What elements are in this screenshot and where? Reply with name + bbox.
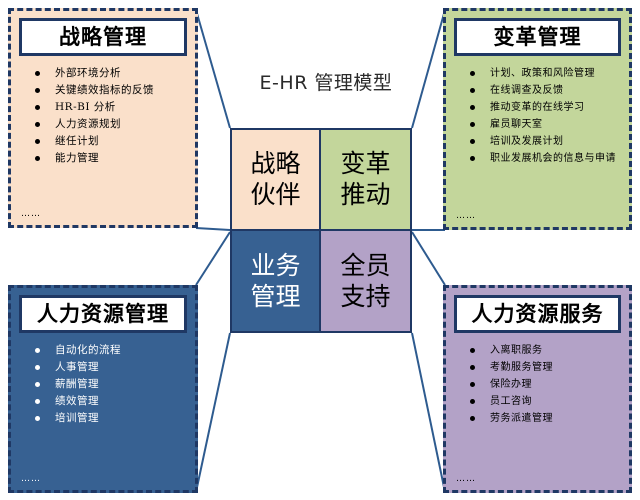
panel-change-management-ellipsis: …… bbox=[454, 211, 621, 221]
list-item: 保险办理 bbox=[470, 376, 621, 393]
list-item: 自动化的流程 bbox=[35, 342, 187, 359]
panel-strategy-management-list: 外部环境分析关键绩效指标的反馈HR-BI 分析人力资源规划继任计划能力管理 bbox=[19, 65, 187, 206]
panel-hr-management-ellipsis: …… bbox=[19, 474, 187, 484]
diagram-canvas: E-HR 管理模型 战略 伙伴 变革 推动 业务 管理 全员 支持 战略管理 外… bbox=[0, 0, 640, 500]
connector-strategy-bottom bbox=[196, 228, 230, 230]
connector-hrm-top bbox=[196, 232, 230, 285]
quadrant-business-management-line1: 业务 bbox=[250, 250, 300, 281]
list-item: 培训管理 bbox=[35, 410, 187, 427]
panel-hr-management-list: 自动化的流程人事管理薪酬管理绩效管理培训管理 bbox=[19, 342, 187, 471]
panel-strategy-management-title: 战略管理 bbox=[19, 18, 187, 56]
list-item: 人力资源规划 bbox=[35, 116, 187, 133]
list-item: 计划、政策和风险管理 bbox=[470, 65, 621, 82]
quadrant-business-management[interactable]: 业务 管理 bbox=[232, 231, 321, 332]
connector-hrm-bottom bbox=[196, 333, 230, 492]
quadrant-business-management-line2: 管理 bbox=[250, 281, 300, 312]
list-item: 职业发展机会的信息与申请 bbox=[470, 150, 621, 167]
panel-hr-management[interactable]: 人力资源管理 自动化的流程人事管理薪酬管理绩效管理培训管理 …… bbox=[8, 285, 198, 493]
list-item: 关键绩效指标的反馈 bbox=[35, 82, 187, 99]
quadrant-change-driver[interactable]: 变革 推动 bbox=[321, 130, 410, 231]
panel-change-management-title: 变革管理 bbox=[454, 18, 621, 56]
connector-hrs-top bbox=[412, 232, 445, 285]
list-item: 考勤服务管理 bbox=[470, 359, 621, 376]
list-item: 外部环境分析 bbox=[35, 65, 187, 82]
quadrant-all-staff-support[interactable]: 全员 支持 bbox=[321, 231, 410, 332]
quadrant-change-driver-line2: 推动 bbox=[340, 179, 390, 210]
list-item: 在线调查及反馈 bbox=[470, 82, 621, 99]
connector-change-top bbox=[412, 10, 445, 128]
list-item: 入离职服务 bbox=[470, 342, 621, 359]
list-item: 雇员聊天室 bbox=[470, 116, 621, 133]
quadrant-strategy-partner-line1: 战略 bbox=[250, 148, 300, 179]
diagram-title: E-HR 管理模型 bbox=[236, 68, 416, 95]
list-item: 人事管理 bbox=[35, 359, 187, 376]
list-item: 继任计划 bbox=[35, 133, 187, 150]
panel-change-management[interactable]: 变革管理 计划、政策和风险管理在线调查及反馈推动变革的在线学习雇员聊天室培训及发… bbox=[443, 8, 632, 230]
panel-hr-services-list: 入离职服务考勤服务管理保险办理员工咨询劳务派遣管理 bbox=[454, 342, 621, 471]
list-item: 员工咨询 bbox=[470, 393, 621, 410]
panel-hr-services[interactable]: 人力资源服务 入离职服务考勤服务管理保险办理员工咨询劳务派遣管理 …… bbox=[443, 285, 632, 493]
list-item: HR-BI 分析 bbox=[35, 99, 187, 116]
panel-strategy-management[interactable]: 战略管理 外部环境分析关键绩效指标的反馈HR-BI 分析人力资源规划继任计划能力… bbox=[8, 8, 198, 228]
panel-change-management-list: 计划、政策和风险管理在线调查及反馈推动变革的在线学习雇员聊天室培训及发展计划职业… bbox=[454, 65, 621, 208]
list-item: 能力管理 bbox=[35, 150, 187, 167]
list-item: 薪酬管理 bbox=[35, 376, 187, 393]
quadrant-change-driver-line1: 变革 bbox=[340, 148, 390, 179]
panel-hr-services-ellipsis: …… bbox=[454, 474, 621, 484]
connector-hrs-bottom bbox=[412, 333, 445, 492]
list-item: 劳务派遣管理 bbox=[470, 410, 621, 427]
connector-strategy-top bbox=[196, 10, 230, 128]
quadrant-all-staff-support-line2: 支持 bbox=[340, 281, 390, 312]
quadrant-all-staff-support-line1: 全员 bbox=[340, 250, 390, 281]
panel-strategy-management-ellipsis: …… bbox=[19, 209, 187, 219]
panel-hr-management-title: 人力资源管理 bbox=[19, 295, 187, 333]
list-item: 培训及发展计划 bbox=[470, 133, 621, 150]
quadrant-strategy-partner-line2: 伙伴 bbox=[250, 179, 300, 210]
list-item: 绩效管理 bbox=[35, 393, 187, 410]
panel-hr-services-title: 人力资源服务 bbox=[454, 295, 621, 333]
list-item: 推动变革的在线学习 bbox=[470, 99, 621, 116]
quadrant-matrix: 战略 伙伴 变革 推动 业务 管理 全员 支持 bbox=[230, 128, 412, 333]
quadrant-strategy-partner[interactable]: 战略 伙伴 bbox=[232, 130, 321, 231]
